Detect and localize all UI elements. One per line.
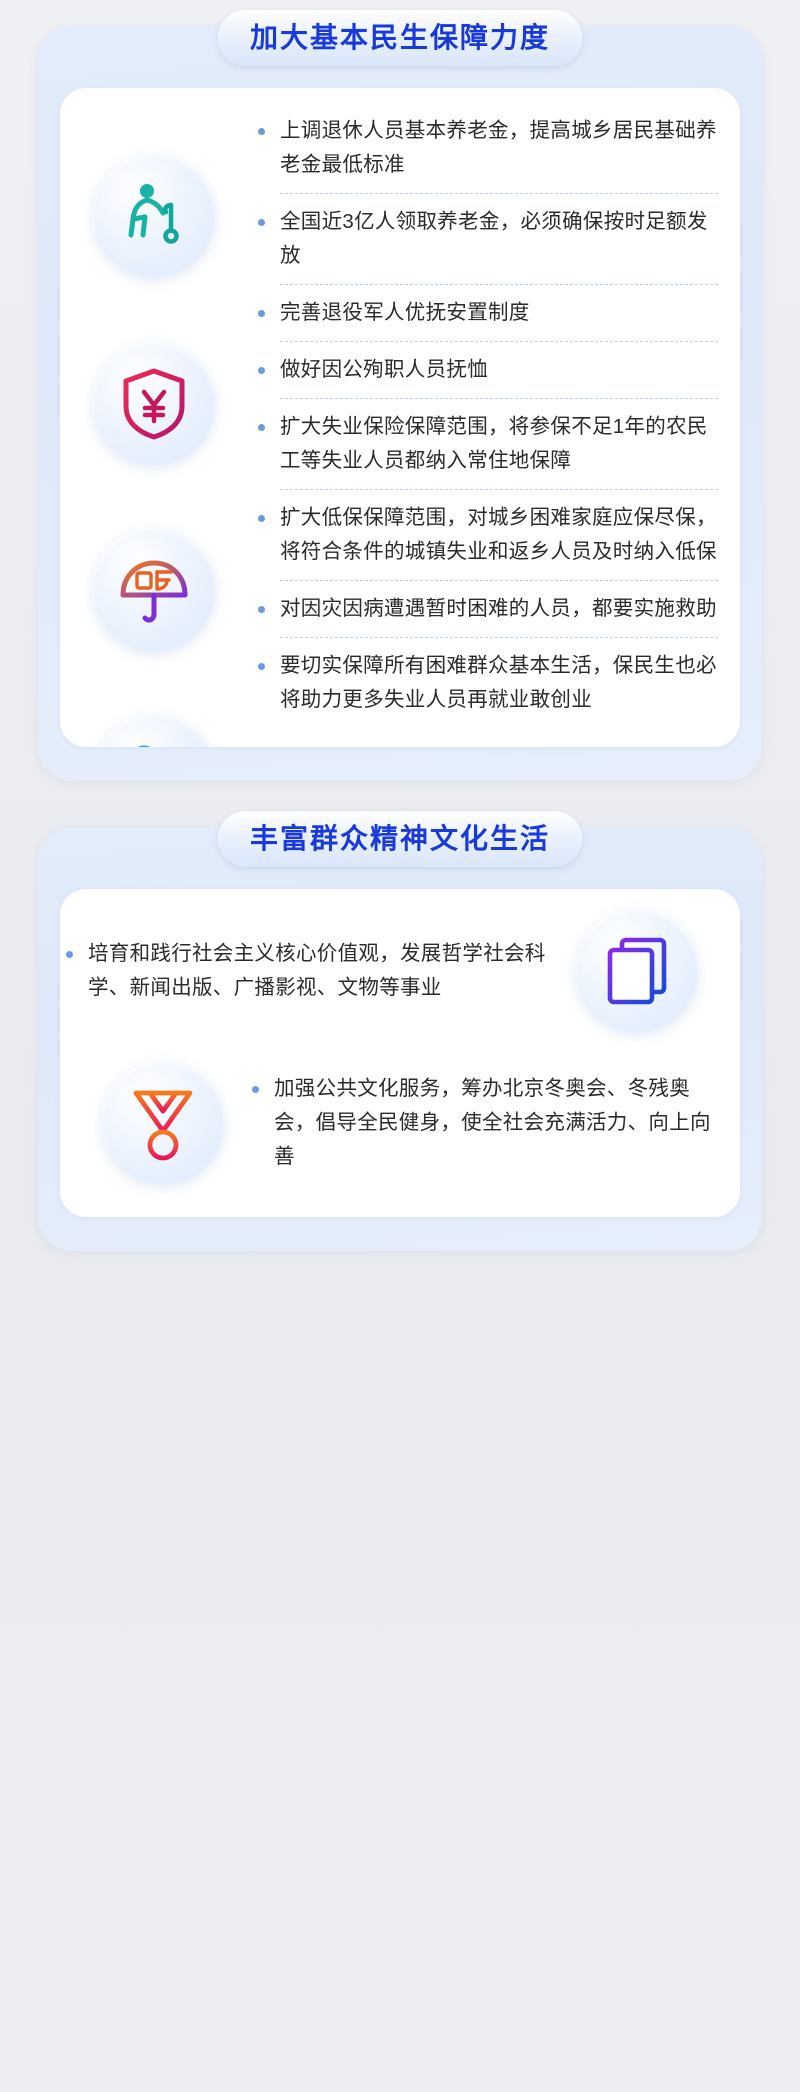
bullet-dot-icon xyxy=(66,951,73,958)
list-item-text: 扩大低保保障范围，对城乡困难家庭应保尽保，将符合条件的城镇失业和返乡人员及时纳入… xyxy=(280,506,717,563)
infographic-page: 加大基本民生保障力度 xyxy=(0,0,800,2092)
list-item-text: 扩大失业保险保障范围，将参保不足1年的农民工等失业人员都纳入常住地保障 xyxy=(280,415,708,472)
dashed-divider xyxy=(280,637,718,638)
dashed-divider xyxy=(280,398,718,399)
book-stack-icon xyxy=(575,909,699,1033)
list-item: 要切实保障所有困难群众基本生活，保民生也必将助力更多失业人员再就业敢创业 xyxy=(254,649,718,717)
list-item-text: 完善退役军人优抚安置制度 xyxy=(280,301,530,324)
section-social-security: 加大基本民生保障力度 xyxy=(38,26,762,781)
bullet-dot-icon xyxy=(258,424,265,431)
list-item-text: 对因灾因病遭遇暂时困难的人员，都要实施救助 xyxy=(280,597,717,620)
medal-icon-wrap xyxy=(78,1061,248,1185)
dashed-divider xyxy=(280,193,718,194)
dashed-divider xyxy=(280,284,718,285)
page-title: 加大基本民生保障力度 xyxy=(250,24,550,52)
elderly-care-icon xyxy=(92,154,216,278)
list-item: 扩大低保保障范围，对城乡困难家庭应保尽保，将符合条件的城镇失业和返乡人员及时纳入… xyxy=(254,501,718,581)
section-title-pill-2: 丰富群众精神文化生活 xyxy=(218,811,582,867)
list-item: 全国近3亿人领取养老金，必须确保按时足额发放 xyxy=(254,205,718,285)
icon-column-1 xyxy=(78,114,248,717)
dashed-divider xyxy=(280,341,718,342)
people-group-icon xyxy=(92,714,216,747)
list-item: 完善退役军人优抚安置制度 xyxy=(254,296,718,342)
bullet-dot-icon xyxy=(258,219,265,226)
book-stack-icon-wrap xyxy=(552,909,722,1033)
dashed-divider xyxy=(280,580,718,581)
list-item: 上调退休人员基本养老金，提高城乡居民基础养老金最低标准 xyxy=(254,114,718,194)
bullet-dot-icon xyxy=(258,128,265,135)
content-row-1: 上调退休人员基本养老金，提高城乡居民基础养老金最低标准 全国近3亿人领取养老金，… xyxy=(78,114,718,717)
list-item-text: 全国近3亿人领取养老金，必须确保按时足额发放 xyxy=(280,210,708,267)
list-item: 对因灾因病遭遇暂时困难的人员，都要实施救助 xyxy=(254,592,718,638)
bullet-dot-icon xyxy=(252,1086,259,1093)
culture-block-sports-text: 加强公共文化服务，筹办北京冬奥会、冬残奥会，倡导全民健身，使全社会充满活力、向上… xyxy=(248,1072,722,1174)
text-column-1: 上调退休人员基本养老金，提高城乡居民基础养老金最低标准 全国近3亿人领取养老金，… xyxy=(248,114,718,717)
medal-icon xyxy=(101,1061,225,1185)
list-item: 扩大失业保险保障范围，将参保不足1年的农民工等失业人员都纳入常住地保障 xyxy=(254,410,718,490)
bullet-dot-icon xyxy=(258,310,265,317)
culture-block-values: 培育和践行社会主义核心价值观，发展哲学社会科学、新闻出版、广播影视、文物等事业 xyxy=(78,895,722,1047)
section-culture-life: 丰富群众精神文化生活 xyxy=(38,827,762,1251)
list-item-text: 加强公共文化服务，筹办北京冬奥会、冬残奥会，倡导全民健身，使全社会充满活力、向上… xyxy=(274,1077,711,1168)
shield-yuan-icon xyxy=(92,342,216,466)
section-title-pill-1: 加大基本民生保障力度 xyxy=(218,10,582,66)
section-2-title: 丰富群众精神文化生活 xyxy=(250,825,550,853)
bullet-dot-icon xyxy=(258,367,265,374)
list-item-text: 培育和践行社会主义核心价值观，发展哲学社会科学、新闻出版、广播影视、文物等事业 xyxy=(88,942,546,999)
list-item: 做好因公殉职人员抚恤 xyxy=(254,353,718,399)
bullet-dot-icon xyxy=(258,515,265,522)
culture-block-sports: 加强公共文化服务，筹办北京冬奥会、冬残奥会，倡导全民健身，使全社会充满活力、向上… xyxy=(78,1047,722,1199)
culture-block-values-text: 培育和践行社会主义核心价值观，发展哲学社会科学、新闻出版、广播影视、文物等事业 xyxy=(78,937,552,1005)
list-item-text: 上调退休人员基本养老金，提高城乡居民基础养老金最低标准 xyxy=(280,119,717,176)
bullet-dot-icon xyxy=(258,606,265,613)
list-item-text: 要切实保障所有困难群众基本生活，保民生也必将助力更多失业人员再就业敢创业 xyxy=(280,654,717,711)
list-item-text: 做好因公殉职人员抚恤 xyxy=(280,358,488,381)
dashed-divider xyxy=(280,489,718,490)
section-1-content-card: 上调退休人员基本养老金，提高城乡居民基础养老金最低标准 全国近3亿人领取养老金，… xyxy=(60,88,740,747)
policy-bullet-list-1: 上调退休人员基本养老金，提高城乡居民基础养老金最低标准 全国近3亿人领取养老金，… xyxy=(254,114,718,717)
section-2-content-card: 培育和践行社会主义核心价值观，发展哲学社会科学、新闻出版、广播影视、文物等事业 xyxy=(60,889,740,1217)
umbrella-bao-icon xyxy=(92,528,216,652)
bullet-dot-icon xyxy=(258,663,265,670)
